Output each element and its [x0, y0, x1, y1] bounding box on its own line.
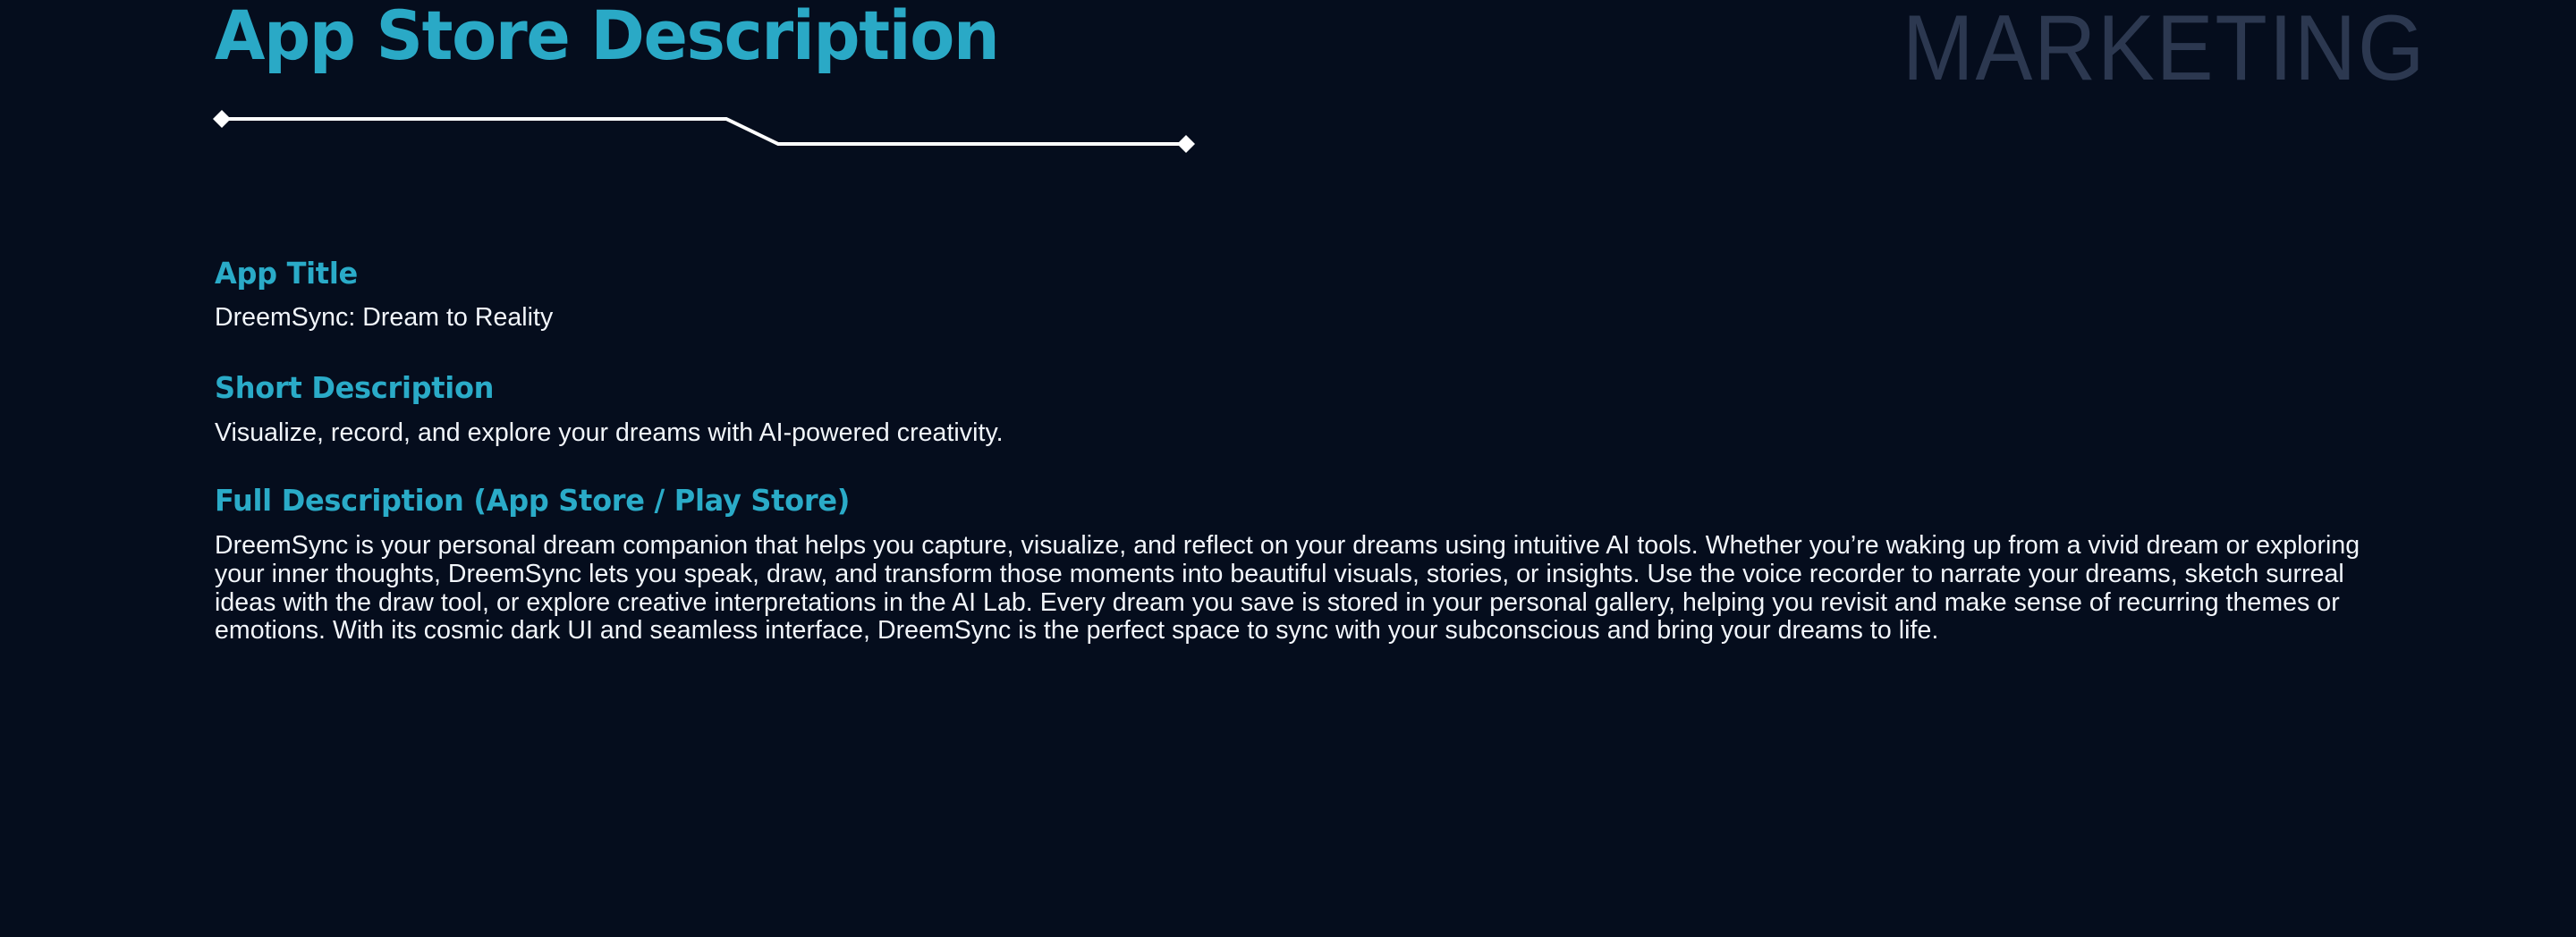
section-full-description: Full Description (App Store / Play Store… [215, 485, 2379, 646]
section-heading-app-title: App Title [215, 257, 2314, 290]
section-body-full-description: DreemSync is your personal dream compani… [215, 532, 2361, 646]
page-title: App Store Description [215, 0, 1417, 74]
section-heading-full-description: Full Description (App Store / Play Store… [215, 485, 2314, 517]
title-underline-decoration [208, 104, 1209, 157]
page-header: App Store Description [215, 0, 1467, 74]
section-app-title: App Title DreemSync: Dream to Reality [215, 257, 2379, 333]
section-body-short-description: Visualize, record, and explore your drea… [215, 419, 2379, 448]
section-heading-short-description: Short Description [215, 372, 2314, 404]
section-watermark-label: MARKETING [1902, 2, 2426, 95]
content-column: App Title DreemSync: Dream to Reality Sh… [215, 257, 2379, 646]
rule-right-diamond-icon [1177, 135, 1195, 153]
section-short-description: Short Description Visualize, record, and… [215, 372, 2379, 447]
rule-stepped-line [222, 119, 1186, 144]
section-body-app-title: DreemSync: Dream to Reality [215, 304, 2379, 333]
slide-root: MARKETING App Store Description App Titl… [0, 0, 2576, 937]
rule-left-diamond-icon [213, 110, 231, 128]
